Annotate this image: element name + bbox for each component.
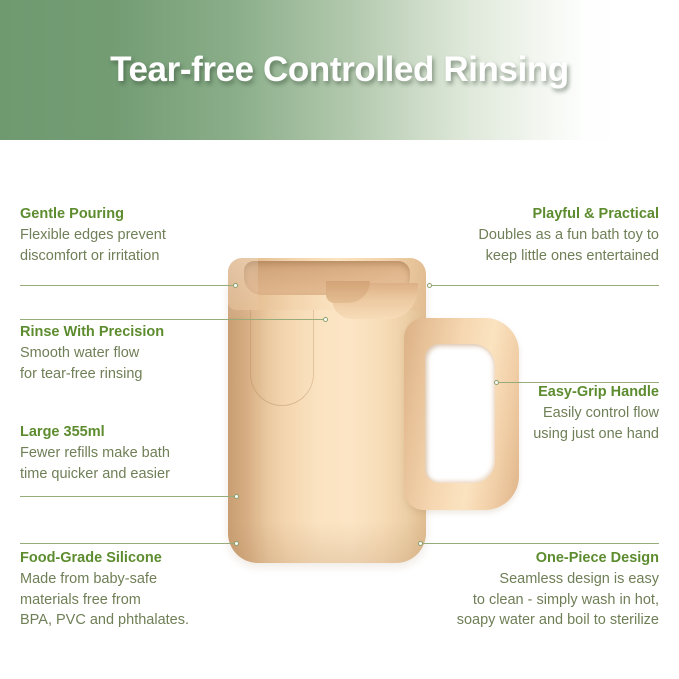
leader-line-large-355ml bbox=[20, 492, 238, 501]
callout-title: Food-Grade Silicone bbox=[20, 548, 280, 568]
callout-title: Gentle Pouring bbox=[20, 204, 280, 224]
callout-line: Seamless design is easy bbox=[391, 569, 659, 590]
callout-title: Playful & Practical bbox=[391, 204, 659, 224]
callout-large-355ml: Large 355ml Fewer refills make bath time… bbox=[20, 422, 280, 484]
leader-stroke bbox=[20, 496, 238, 497]
callout-easy-grip-handle: Easy-Grip Handle Easily control flow usi… bbox=[391, 382, 659, 444]
callout-title: One-Piece Design bbox=[391, 548, 659, 568]
leader-line-gentle-pouring bbox=[20, 281, 237, 290]
callout-playful-practical: Playful & Practical Doubles as a fun bat… bbox=[391, 204, 659, 266]
leader-stroke bbox=[20, 543, 238, 544]
callout-line: soapy water and boil to sterilize bbox=[391, 610, 659, 631]
callout-line: using just one hand bbox=[391, 424, 659, 445]
page-title: Tear-free Controlled Rinsing bbox=[0, 0, 679, 140]
cup-edge-highlight bbox=[228, 258, 258, 318]
callout-line: Fewer refills make bath bbox=[20, 443, 280, 464]
callout-line: Smooth water flow bbox=[20, 343, 280, 364]
callout-title: Easy-Grip Handle bbox=[391, 382, 659, 402]
callout-one-piece-design: One-Piece Design Seamless design is easy… bbox=[391, 548, 659, 631]
leader-stroke bbox=[20, 285, 237, 286]
callout-gentle-pouring: Gentle Pouring Flexible edges prevent di… bbox=[20, 204, 280, 266]
callout-line: Made from baby-safe bbox=[20, 569, 280, 590]
callout-line: keep little ones entertained bbox=[391, 246, 659, 267]
callout-food-grade-silicone: Food-Grade Silicone Made from baby-safe … bbox=[20, 548, 280, 631]
callout-line: time quicker and easier bbox=[20, 464, 280, 485]
leader-line-food-grade-silicone bbox=[20, 539, 238, 548]
callout-line: materials free from bbox=[20, 590, 280, 611]
callout-line: to clean - simply wash in hot, bbox=[391, 590, 659, 611]
callout-title: Large 355ml bbox=[20, 422, 280, 442]
callout-title: Rinse With Precision bbox=[20, 322, 280, 342]
callout-line: Flexible edges prevent bbox=[20, 225, 280, 246]
callout-line: Easily control flow bbox=[391, 403, 659, 424]
header-banner: Tear-free Controlled Rinsing bbox=[0, 0, 679, 140]
callout-rinse-with-precision: Rinse With Precision Smooth water flow f… bbox=[20, 322, 280, 384]
callout-line: BPA, PVC and phthalates. bbox=[20, 610, 280, 631]
callout-line: discomfort or irritation bbox=[20, 246, 280, 267]
infographic-page: Tear-free Controlled Rinsing Gentle Pour… bbox=[0, 0, 679, 679]
callout-line: for tear-free rinsing bbox=[20, 364, 280, 385]
callout-line: Doubles as a fun bath toy to bbox=[391, 225, 659, 246]
